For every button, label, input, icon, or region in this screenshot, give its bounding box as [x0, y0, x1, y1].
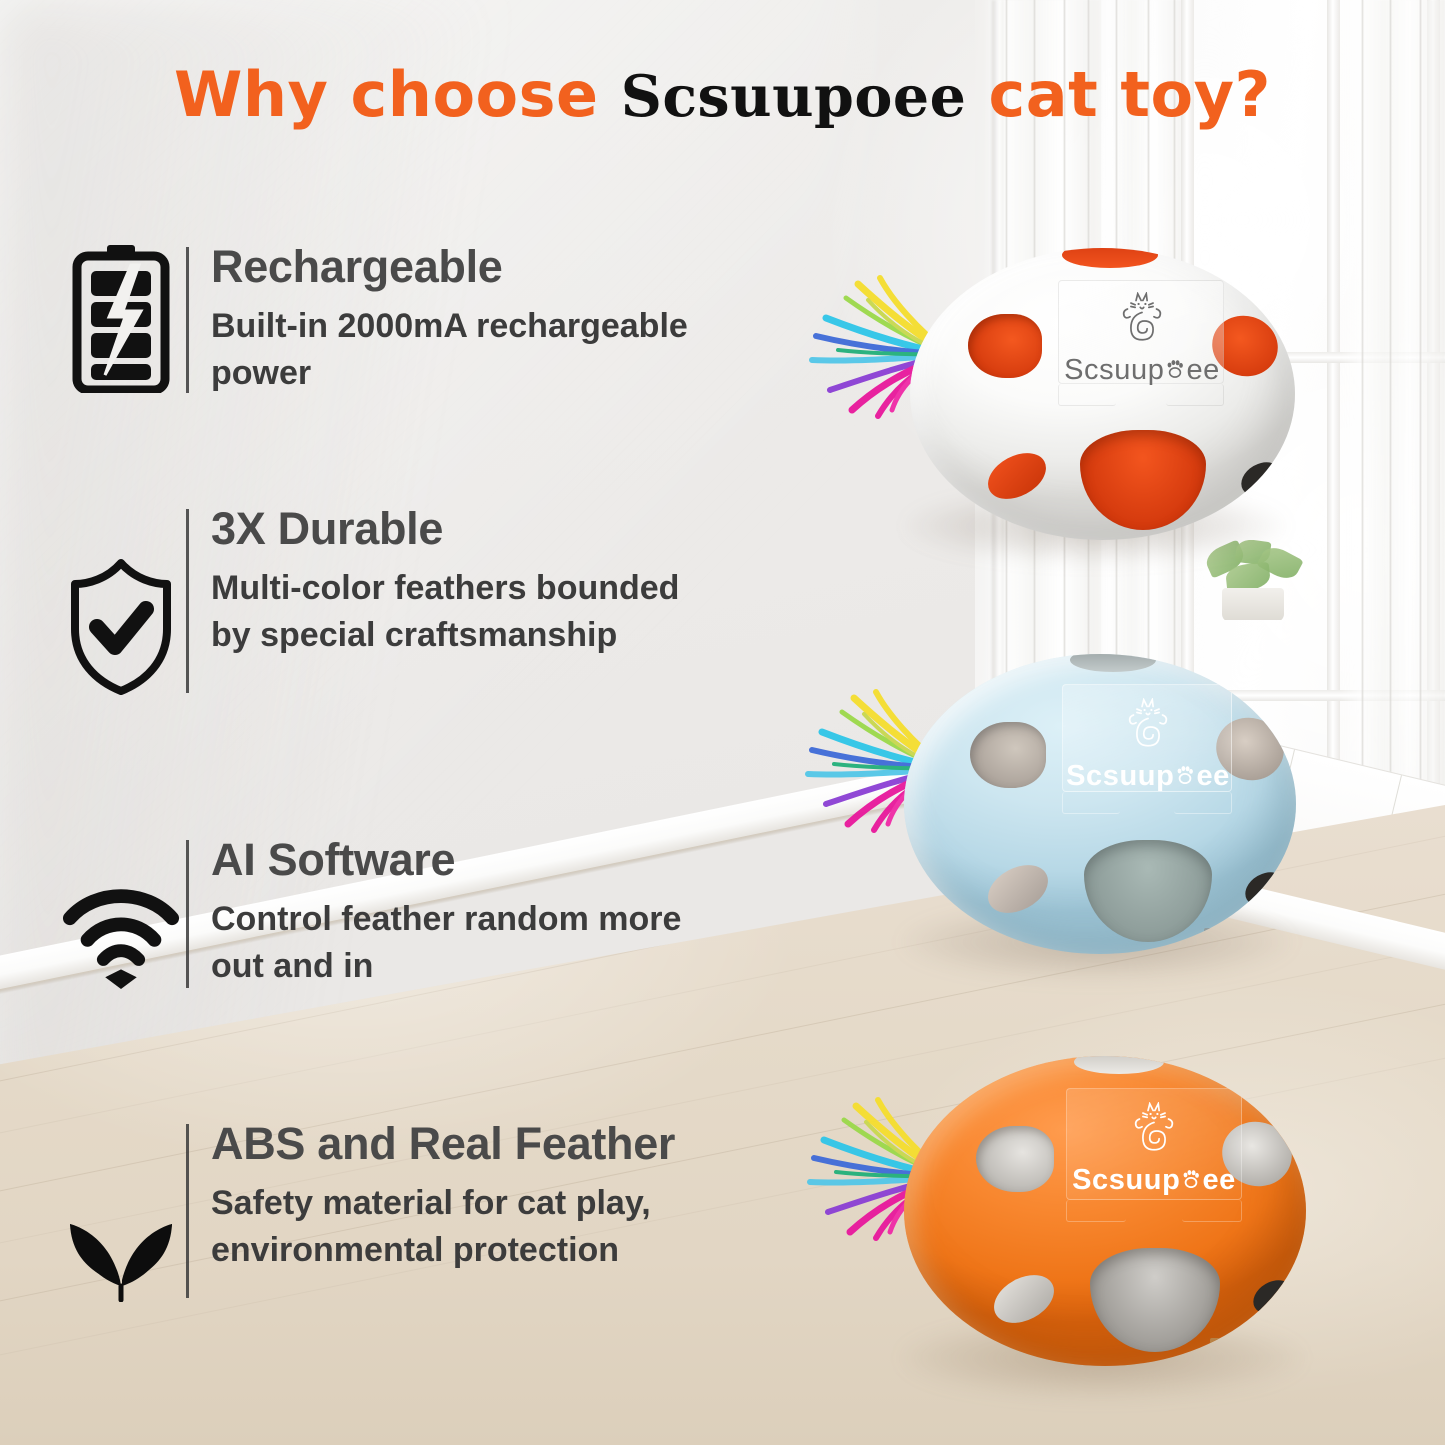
- feature-divider: [186, 247, 189, 393]
- feature-body: Built-in 2000mA rechargeable power: [211, 303, 711, 397]
- feature-divider: [186, 1124, 189, 1298]
- toy-plate-notch-right: [1182, 1200, 1242, 1222]
- product-white-toy: Scsuup ee: [880, 240, 1310, 570]
- toy-side-hole-left: [980, 444, 1054, 508]
- feature-body: Safety material for cat play, environmen…: [211, 1180, 681, 1274]
- toy-charging-port: [1210, 1338, 1230, 1344]
- toy-front-hole: [1084, 840, 1212, 942]
- toy-top-plate: [1066, 1088, 1242, 1200]
- feature-heading: ABS and Real Feather: [211, 1120, 681, 1168]
- toy-sensor-hole: [1235, 456, 1286, 503]
- feature-text-group: ABS and Real Feather Safety material for…: [211, 1120, 681, 1274]
- toy-plate-notch-left: [1066, 1200, 1126, 1222]
- toy-feather-hole: [970, 722, 1046, 788]
- toy-top-plate: [1058, 280, 1224, 384]
- toy-shell: Scsuup ee: [910, 248, 1295, 540]
- feature-text-group: Rechargeable Built-in 2000mA rechargeabl…: [211, 243, 711, 397]
- feature-abs-real-feather: ABS and Real Feather Safety material for…: [62, 1120, 681, 1302]
- toy-plate-notch-left: [1062, 792, 1120, 814]
- toy-front-hole: [1080, 430, 1206, 530]
- toy-sensor-hole: [1247, 1274, 1298, 1321]
- feature-heading: Rechargeable: [211, 243, 711, 291]
- toy-feather-hole: [976, 1126, 1054, 1192]
- toy-plate-notch-right: [1174, 792, 1232, 814]
- feature-divider: [186, 840, 189, 988]
- toy-plate-notch-right: [1166, 384, 1224, 406]
- feature-ai-software: AI Software Control feather random more …: [62, 836, 711, 992]
- feature-durable: 3X Durable Multi-color feathers bounded …: [62, 505, 711, 697]
- battery-icon: [62, 243, 180, 393]
- product-blue-toy: Scsuup ee: [868, 648, 1318, 988]
- feature-rechargeable: Rechargeable Built-in 2000mA rechargeabl…: [62, 243, 711, 397]
- shield-check-icon: [62, 505, 180, 697]
- toy-sensor-hole: [1239, 866, 1290, 913]
- wifi-signal-icon: [62, 836, 180, 992]
- toy-feather-hole: [968, 314, 1042, 378]
- feature-divider: [186, 509, 189, 693]
- toy-top-hole: [1074, 1056, 1164, 1074]
- feature-body: Multi-color feathers bounded by special …: [211, 565, 711, 659]
- product-orange-toy: Scsuup ee: [860, 1050, 1330, 1400]
- feature-body: Control feather random more out and in: [211, 896, 711, 990]
- toy-shell: Scsuup ee: [904, 1056, 1306, 1366]
- toy-front-hole: [1090, 1248, 1220, 1352]
- toy-top-hole: [1062, 248, 1158, 268]
- toy-charging-port: [1206, 518, 1226, 524]
- feature-heading: 3X Durable: [211, 505, 711, 553]
- toy-side-hole-left: [980, 855, 1056, 922]
- title-part-two: cat toy?: [966, 58, 1271, 131]
- feature-text-group: 3X Durable Multi-color feathers bounded …: [211, 505, 711, 659]
- title-brand-name: Scsuupoee: [621, 63, 967, 130]
- toy-top-plate: [1062, 684, 1232, 792]
- leaf-sprout-icon: [62, 1120, 180, 1302]
- page-title: Why choose Scsuupoee cat toy?: [0, 58, 1445, 131]
- toy-top-hole: [1070, 654, 1156, 672]
- toy-shell: Scsuup ee: [904, 654, 1296, 954]
- toy-side-hole-left: [986, 1265, 1062, 1332]
- feature-heading: AI Software: [211, 836, 711, 884]
- toy-plate-notch-left: [1058, 384, 1116, 406]
- toy-charging-port: [1204, 928, 1224, 934]
- title-part-one: Why choose: [174, 58, 621, 131]
- feature-text-group: AI Software Control feather random more …: [211, 836, 711, 990]
